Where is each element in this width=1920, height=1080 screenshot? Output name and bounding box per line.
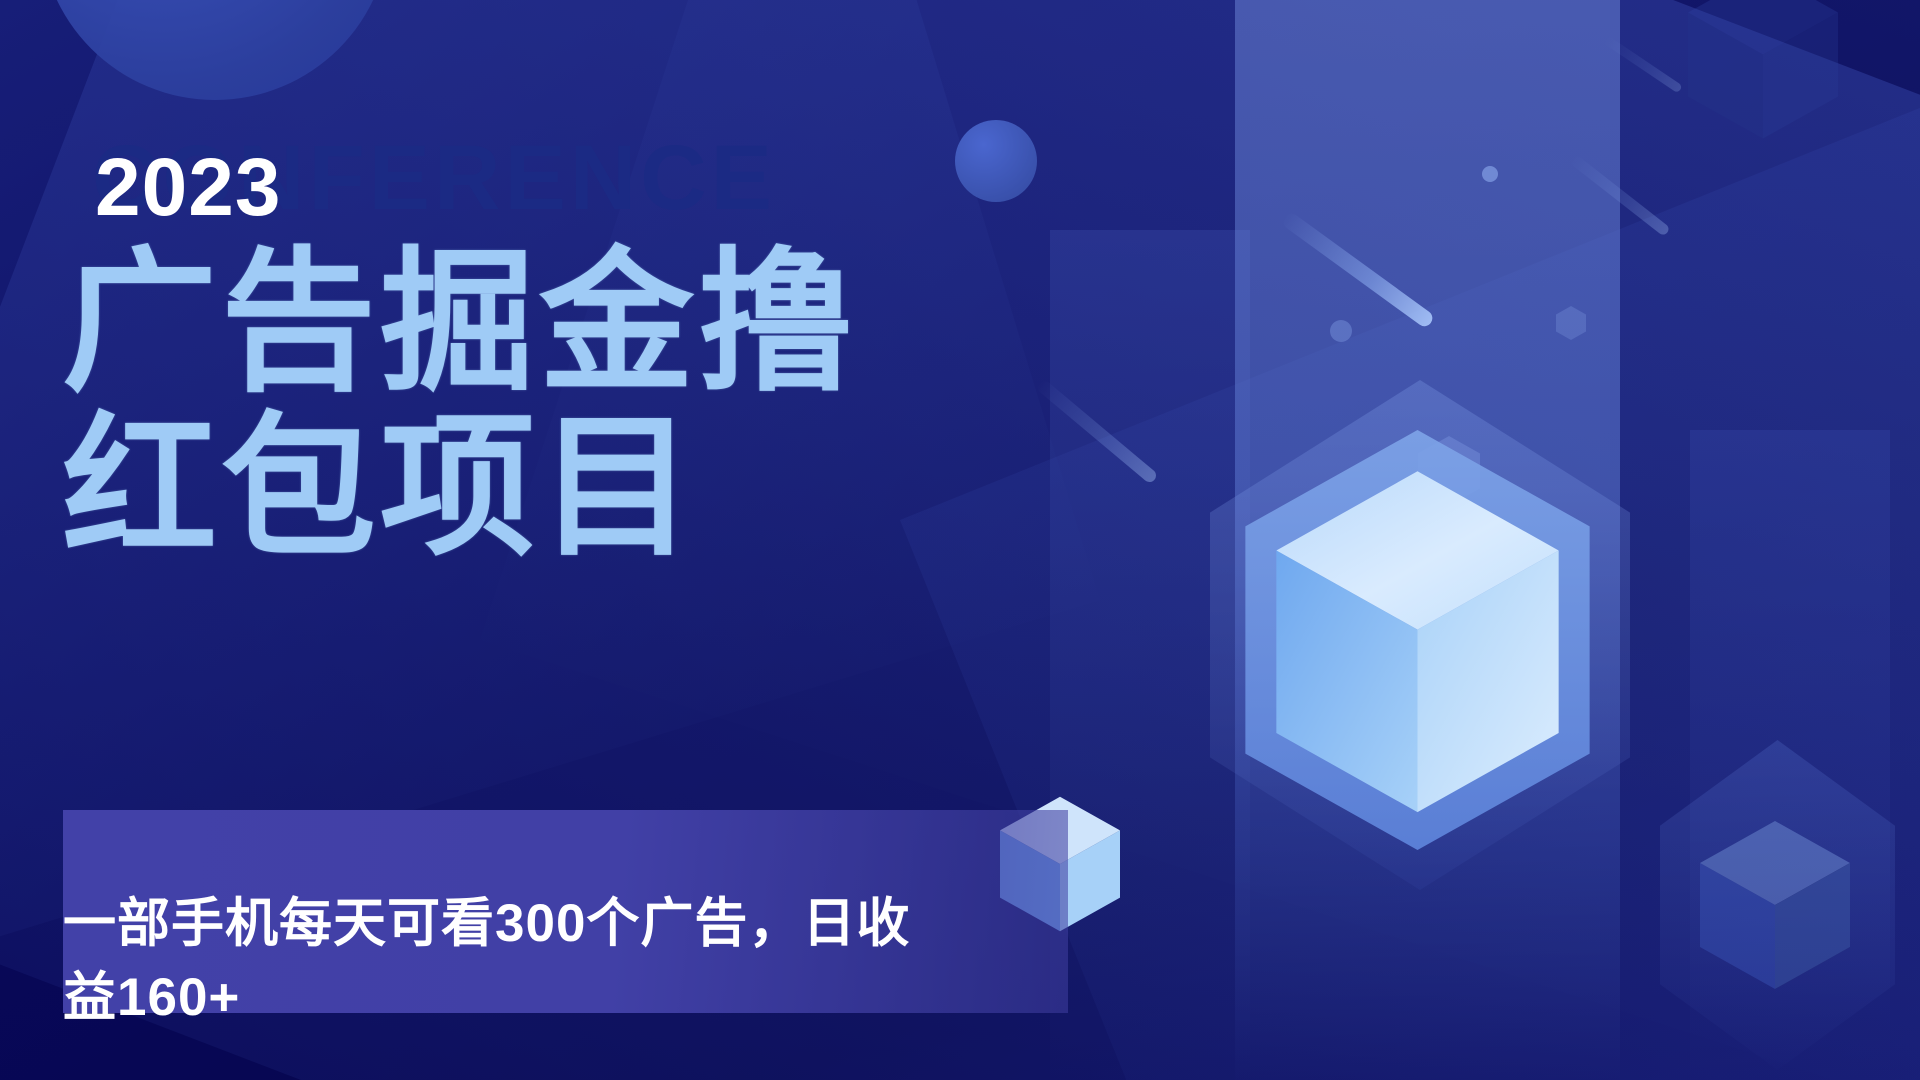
year-label: 2023 <box>95 147 281 229</box>
text-block: CONFERENCE 2023 广告掘金撸 红包项目 一部手机每天可看300个广… <box>0 0 1100 1080</box>
main-isometric-cube-icon <box>1245 430 1590 850</box>
dot-particle-icon <box>1482 166 1498 182</box>
ghost-cube-icon <box>1688 0 1838 148</box>
faded-isometric-cube-icon <box>1700 820 1850 1005</box>
dot-particle-icon <box>1330 320 1352 342</box>
page-title: 广告掘金撸 红包项目 <box>62 240 857 570</box>
promo-banner: CONFERENCE 2023 广告掘金撸 红包项目 一部手机每天可看300个广… <box>0 0 1920 1080</box>
subtitle-text: 一部手机每天可看300个广告，日收益160+ <box>63 887 943 1035</box>
